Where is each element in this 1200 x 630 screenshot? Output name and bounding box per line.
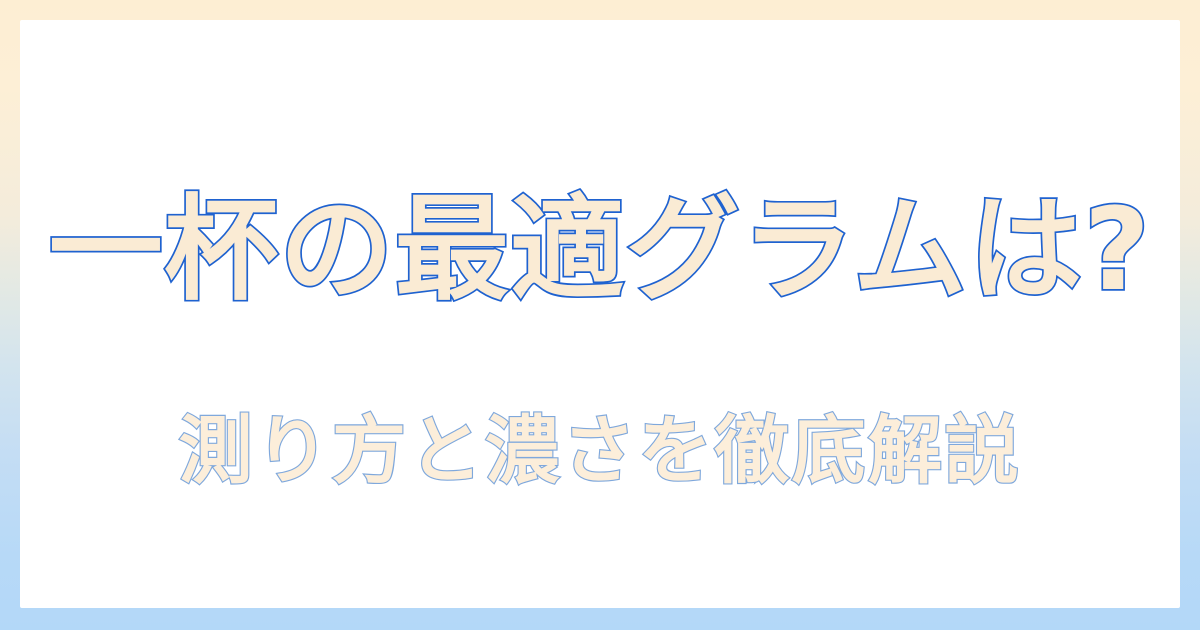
- page-title: 一杯の最適グラムは?: [20, 188, 1180, 312]
- headline-block: 一杯の最適グラムは? 測り方と濃さを徹底解説: [20, 20, 1180, 608]
- page-subtitle: 測り方と濃さを徹底解説: [20, 408, 1180, 494]
- ogp-banner: 一杯の最適グラムは? 測り方と濃さを徹底解説: [0, 0, 1200, 630]
- content-panel: 一杯の最適グラムは? 測り方と濃さを徹底解説: [20, 20, 1180, 608]
